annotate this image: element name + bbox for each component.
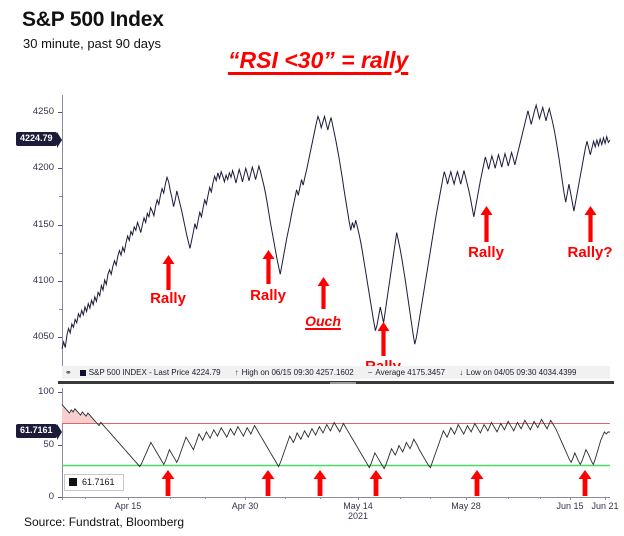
rsi-oversold-arrow-up-icon — [161, 470, 175, 496]
price-y-tick-label: 4250 — [8, 106, 54, 117]
high-arrow-icon: ↑ — [235, 368, 239, 377]
legend-average-label: Average 4175.3457 — [375, 368, 445, 377]
pin-icon: ⚭ — [65, 368, 72, 377]
x-axis-tick-label: May 14 — [328, 501, 388, 511]
price-annotation-arrow-up-icon — [480, 206, 493, 242]
rsi-oversold-arrow-up-icon — [369, 470, 383, 496]
x-axis-minor-tick — [285, 497, 286, 499]
price-annotation-arrow-up-icon — [377, 322, 390, 356]
x-axis-tick-label: Apr 30 — [215, 501, 275, 511]
price-y-tick-label: 4200 — [8, 162, 54, 173]
page-title: S&P 500 Index — [22, 8, 164, 32]
rsi-oversold-arrow-up-icon — [313, 470, 327, 496]
rsi-line-chart — [62, 392, 610, 497]
callout-annotation: “RSI <30” = rally — [228, 47, 408, 74]
legend-series: ⚭ S&P 500 INDEX - Last Price 4224.79 — [65, 368, 221, 377]
price-annotation-label: Rally — [468, 244, 504, 261]
price-annotation-arrow-up-icon — [262, 250, 275, 284]
source-note: Source: Fundstrat, Bloomberg — [24, 515, 184, 529]
rsi-overbought-shading — [62, 405, 95, 424]
legend-average: − Average 4175.3457 — [368, 368, 445, 377]
x-axis-tick-label: Apr 15 — [98, 501, 158, 511]
x-axis-tick-label: Jun 21 — [575, 501, 624, 511]
x-axis-minor-tick — [508, 497, 509, 499]
price-annotation-arrow-up-icon — [162, 255, 175, 290]
price-y-tick-label: 4050 — [8, 331, 54, 342]
price-y-tick-label: 4150 — [8, 219, 54, 230]
rsi-oversold-arrow-up-icon — [578, 470, 592, 496]
rsi-legend-box: 61.7161 — [64, 474, 124, 491]
rsi-value-tag: 61.7161 — [16, 424, 57, 437]
legend-series-label: S&P 500 INDEX - Last Price 4224.79 — [89, 368, 221, 377]
panel-divider-handle[interactable] — [330, 382, 356, 384]
x-axis-minor-tick — [430, 497, 431, 499]
legend-low: ↓ Low on 04/05 09:30 4034.4399 — [459, 368, 576, 377]
rsi-color-swatch — [69, 478, 77, 486]
price-annotation-arrow-up-icon — [317, 277, 330, 309]
series-color-swatch — [80, 370, 86, 376]
price-annotation-label: Rally? — [567, 244, 612, 261]
legend-low-label: Low on 04/05 09:30 4034.4399 — [466, 368, 576, 377]
x-axis-line — [62, 497, 610, 498]
price-annotation-arrow-up-icon — [584, 206, 597, 242]
rsi-legend-value: 61.7161 — [82, 477, 115, 488]
low-arrow-icon: ↓ — [459, 368, 463, 377]
x-axis-minor-tick — [205, 497, 206, 499]
price-legend-strip: ⚭ S&P 500 INDEX - Last Price 4224.79 ↑ H… — [62, 366, 610, 379]
x-axis-tick — [466, 497, 467, 500]
rsi-y-tick-label: 100 — [8, 386, 54, 397]
x-axis-tick — [605, 497, 606, 500]
x-axis-minor-tick — [85, 497, 86, 499]
x-axis-tick — [128, 497, 129, 500]
rsi-oversold-arrow-up-icon — [470, 470, 484, 496]
price-annotation-label: Ouch — [305, 313, 341, 329]
rsi-oversold-arrow-up-icon — [261, 470, 275, 496]
legend-high: ↑ High on 06/15 09:30 4257.1602 — [235, 368, 354, 377]
rsi-series-path — [62, 405, 610, 469]
x-axis-year-label: 2021 — [333, 511, 383, 521]
price-annotation-label: Rally — [250, 287, 286, 304]
page-subtitle: 30 minute, past 90 days — [23, 36, 161, 51]
last-price-tag: 4224.79 — [16, 132, 57, 145]
x-axis-tick — [245, 497, 246, 500]
x-axis-tick-label: May 28 — [436, 501, 496, 511]
price-annotation-label: Rally — [150, 290, 186, 307]
x-axis-minor-tick — [170, 497, 171, 499]
x-axis-minor-tick — [400, 497, 401, 499]
price-y-tick-label: 4100 — [8, 275, 54, 286]
average-line-icon: − — [368, 368, 373, 377]
x-axis-minor-tick — [540, 497, 541, 499]
x-axis-tick — [358, 497, 359, 500]
legend-high-label: High on 06/15 09:30 4257.1602 — [242, 368, 354, 377]
rsi-y-tick-label: 0 — [8, 491, 54, 502]
x-axis-tick — [570, 497, 571, 500]
rsi-y-tick-label: 50 — [8, 439, 54, 450]
x-axis-minor-tick — [320, 497, 321, 499]
